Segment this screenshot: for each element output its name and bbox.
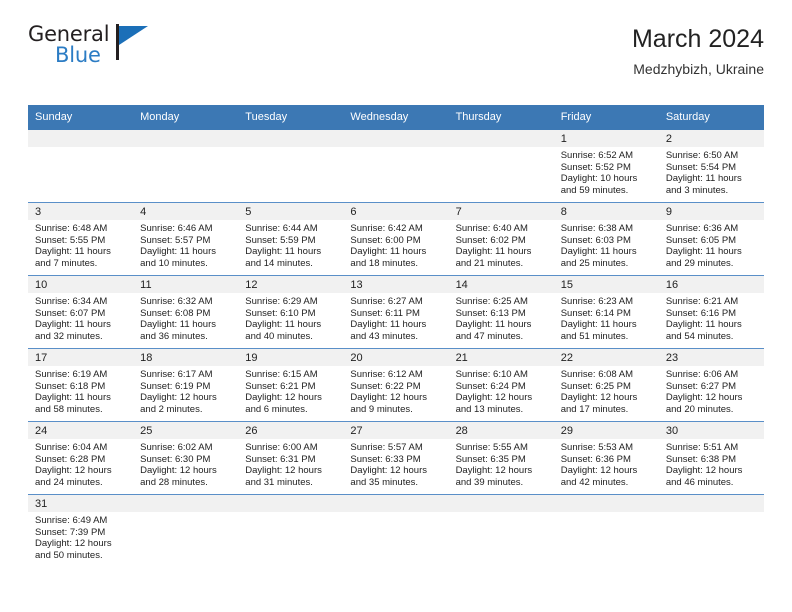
day-number: 13 [343,276,448,293]
sunset-text: Sunset: 6:00 PM [350,235,443,247]
day-details: Sunrise: 6:48 AMSunset: 5:55 PMDaylight:… [28,220,133,274]
calendar-week-row: 24Sunrise: 6:04 AMSunset: 6:28 PMDayligh… [28,422,764,495]
sunset-text: Sunset: 5:57 PM [140,235,233,247]
sunset-text: Sunset: 6:08 PM [140,308,233,320]
day-details: Sunrise: 6:50 AMSunset: 5:54 PMDaylight:… [659,147,764,201]
day-cell-1[interactable]: 1Sunrise: 6:52 AMSunset: 5:52 PMDaylight… [554,130,659,202]
day-cell-empty [659,495,764,567]
sunrise-text: Sunrise: 6:15 AM [245,369,338,381]
day-number [238,130,343,147]
calendar-week-row: 10Sunrise: 6:34 AMSunset: 6:07 PMDayligh… [28,276,764,349]
daylight-text: and 54 minutes. [666,331,759,343]
day-number: 17 [28,349,133,366]
daylight-text: and 58 minutes. [35,404,128,416]
day-number: 23 [659,349,764,366]
day-details: Sunrise: 6:19 AMSunset: 6:18 PMDaylight:… [28,366,133,420]
daylight-text: Daylight: 11 hours [561,319,654,331]
sunrise-text: Sunrise: 5:53 AM [561,442,654,454]
page-subtitle: Medzhybizh, Ukraine [632,58,764,80]
daylight-text: Daylight: 11 hours [35,392,128,404]
day-cell-23[interactable]: 23Sunrise: 6:06 AMSunset: 6:27 PMDayligh… [659,349,764,421]
weekday-header-saturday: Saturday [659,105,764,130]
daylight-text: Daylight: 11 hours [35,319,128,331]
day-number: 20 [343,349,448,366]
sunset-text: Sunset: 6:13 PM [456,308,549,320]
sunrise-text: Sunrise: 6:29 AM [245,296,338,308]
day-details: Sunrise: 6:08 AMSunset: 6:25 PMDaylight:… [554,366,659,420]
sunrise-text: Sunrise: 6:19 AM [35,369,128,381]
weekday-header-tuesday: Tuesday [238,105,343,130]
day-number: 25 [133,422,238,439]
sunset-text: Sunset: 5:54 PM [666,162,759,174]
day-cell-5[interactable]: 5Sunrise: 6:44 AMSunset: 5:59 PMDaylight… [238,203,343,275]
day-number: 4 [133,203,238,220]
day-number [343,130,448,147]
day-cell-6[interactable]: 6Sunrise: 6:42 AMSunset: 6:00 PMDaylight… [343,203,448,275]
sunrise-text: Sunrise: 6:08 AM [561,369,654,381]
daylight-text: Daylight: 11 hours [140,319,233,331]
day-cell-20[interactable]: 20Sunrise: 6:12 AMSunset: 6:22 PMDayligh… [343,349,448,421]
day-cell-12[interactable]: 12Sunrise: 6:29 AMSunset: 6:10 PMDayligh… [238,276,343,348]
daylight-text: and 40 minutes. [245,331,338,343]
sunrise-text: Sunrise: 6:06 AM [666,369,759,381]
day-details: Sunrise: 6:38 AMSunset: 6:03 PMDaylight:… [554,220,659,274]
day-cell-25[interactable]: 25Sunrise: 6:02 AMSunset: 6:30 PMDayligh… [133,422,238,494]
sunrise-text: Sunrise: 6:32 AM [140,296,233,308]
sunrise-text: Sunrise: 6:36 AM [666,223,759,235]
sunrise-text: Sunrise: 6:44 AM [245,223,338,235]
day-number: 1 [554,130,659,147]
daylight-text: and 43 minutes. [350,331,443,343]
daylight-text: and 50 minutes. [35,550,128,562]
daylight-text: and 42 minutes. [561,477,654,489]
day-number: 26 [238,422,343,439]
sunset-text: Sunset: 6:19 PM [140,381,233,393]
daylight-text: Daylight: 12 hours [245,392,338,404]
day-number: 24 [28,422,133,439]
sunset-text: Sunset: 7:39 PM [35,527,128,539]
daylight-text: Daylight: 12 hours [561,392,654,404]
day-cell-15[interactable]: 15Sunrise: 6:23 AMSunset: 6:14 PMDayligh… [554,276,659,348]
day-details: Sunrise: 5:51 AMSunset: 6:38 PMDaylight:… [659,439,764,493]
day-details: Sunrise: 6:36 AMSunset: 6:05 PMDaylight:… [659,220,764,274]
day-cell-14[interactable]: 14Sunrise: 6:25 AMSunset: 6:13 PMDayligh… [449,276,554,348]
day-number: 12 [238,276,343,293]
brand-logo[interactable]: General Blue [28,22,148,72]
daylight-text: Daylight: 11 hours [666,173,759,185]
sunset-text: Sunset: 6:33 PM [350,454,443,466]
daylight-text: Daylight: 12 hours [456,392,549,404]
daylight-text: Daylight: 11 hours [350,246,443,258]
day-number: 8 [554,203,659,220]
sunset-text: Sunset: 6:11 PM [350,308,443,320]
daylight-text: and 9 minutes. [350,404,443,416]
sunrise-text: Sunrise: 6:49 AM [35,515,128,527]
day-details: Sunrise: 5:57 AMSunset: 6:33 PMDaylight:… [343,439,448,493]
daylight-text: and 59 minutes. [561,185,654,197]
daylight-text: and 14 minutes. [245,258,338,270]
flag-triangle-icon [119,26,148,45]
day-number: 19 [238,349,343,366]
calendar-body: 1Sunrise: 6:52 AMSunset: 5:52 PMDaylight… [28,130,764,567]
sunrise-text: Sunrise: 6:21 AM [666,296,759,308]
weekday-header-sunday: Sunday [28,105,133,130]
day-details: Sunrise: 6:02 AMSunset: 6:30 PMDaylight:… [133,439,238,493]
calendar-week-row: 17Sunrise: 6:19 AMSunset: 6:18 PMDayligh… [28,349,764,422]
sunrise-text: Sunrise: 6:25 AM [456,296,549,308]
sunrise-text: Sunrise: 6:17 AM [140,369,233,381]
sunset-text: Sunset: 6:10 PM [245,308,338,320]
daylight-text: and 20 minutes. [666,404,759,416]
day-details: Sunrise: 6:46 AMSunset: 5:57 PMDaylight:… [133,220,238,274]
day-cell-10[interactable]: 10Sunrise: 6:34 AMSunset: 6:07 PMDayligh… [28,276,133,348]
day-cell-17[interactable]: 17Sunrise: 6:19 AMSunset: 6:18 PMDayligh… [28,349,133,421]
day-cell-2[interactable]: 2Sunrise: 6:50 AMSunset: 5:54 PMDaylight… [659,130,764,202]
daylight-text: and 31 minutes. [245,477,338,489]
daylight-text: Daylight: 11 hours [350,319,443,331]
day-details: Sunrise: 6:10 AMSunset: 6:24 PMDaylight:… [449,366,554,420]
daylight-text: and 21 minutes. [456,258,549,270]
sunrise-text: Sunrise: 6:02 AM [140,442,233,454]
day-details: Sunrise: 6:42 AMSunset: 6:00 PMDaylight:… [343,220,448,274]
day-cell-3[interactable]: 3Sunrise: 6:48 AMSunset: 5:55 PMDaylight… [28,203,133,275]
day-cell-7[interactable]: 7Sunrise: 6:40 AMSunset: 6:02 PMDaylight… [449,203,554,275]
sunrise-text: Sunrise: 5:57 AM [350,442,443,454]
brand-name-blue: Blue [55,43,101,67]
daylight-text: and 17 minutes. [561,404,654,416]
day-cell-19[interactable]: 19Sunrise: 6:15 AMSunset: 6:21 PMDayligh… [238,349,343,421]
weekday-header-thursday: Thursday [449,105,554,130]
sunrise-text: Sunrise: 6:52 AM [561,150,654,162]
daylight-text: Daylight: 11 hours [456,319,549,331]
daylight-text: Daylight: 12 hours [140,392,233,404]
sunset-text: Sunset: 6:28 PM [35,454,128,466]
day-details: Sunrise: 6:32 AMSunset: 6:08 PMDaylight:… [133,293,238,347]
day-cell-empty [28,130,133,202]
day-number: 30 [659,422,764,439]
day-cell-27[interactable]: 27Sunrise: 5:57 AMSunset: 6:33 PMDayligh… [343,422,448,494]
daylight-text: Daylight: 11 hours [245,319,338,331]
day-number: 22 [554,349,659,366]
sunset-text: Sunset: 6:30 PM [140,454,233,466]
daylight-text: Daylight: 11 hours [666,319,759,331]
weekday-header-monday: Monday [133,105,238,130]
day-number: 29 [554,422,659,439]
daylight-text: Daylight: 10 hours [561,173,654,185]
daylight-text: and 18 minutes. [350,258,443,270]
day-cell-22[interactable]: 22Sunrise: 6:08 AMSunset: 6:25 PMDayligh… [554,349,659,421]
day-details: Sunrise: 5:55 AMSunset: 6:35 PMDaylight:… [449,439,554,493]
day-details: Sunrise: 6:04 AMSunset: 6:28 PMDaylight:… [28,439,133,493]
daylight-text: and 46 minutes. [666,477,759,489]
weekday-header-row: SundayMondayTuesdayWednesdayThursdayFrid… [28,105,764,130]
day-details: Sunrise: 6:49 AMSunset: 7:39 PMDaylight:… [28,512,133,566]
sunrise-text: Sunrise: 6:00 AM [245,442,338,454]
day-details: Sunrise: 6:34 AMSunset: 6:07 PMDaylight:… [28,293,133,347]
day-number: 10 [28,276,133,293]
day-details: Sunrise: 6:25 AMSunset: 6:13 PMDaylight:… [449,293,554,347]
sunrise-text: Sunrise: 6:48 AM [35,223,128,235]
weekday-header-friday: Friday [554,105,659,130]
sunset-text: Sunset: 6:36 PM [561,454,654,466]
sunset-text: Sunset: 6:35 PM [456,454,549,466]
daylight-text: Daylight: 11 hours [35,246,128,258]
day-cell-empty [133,130,238,202]
sunset-text: Sunset: 5:55 PM [35,235,128,247]
day-cell-24[interactable]: 24Sunrise: 6:04 AMSunset: 6:28 PMDayligh… [28,422,133,494]
day-details: Sunrise: 5:53 AMSunset: 6:36 PMDaylight:… [554,439,659,493]
day-details: Sunrise: 6:52 AMSunset: 5:52 PMDaylight:… [554,147,659,201]
day-cell-8[interactable]: 8Sunrise: 6:38 AMSunset: 6:03 PMDaylight… [554,203,659,275]
sunrise-text: Sunrise: 6:04 AM [35,442,128,454]
day-cell-empty [449,495,554,567]
daylight-text: Daylight: 12 hours [35,465,128,477]
day-cell-empty [238,130,343,202]
day-details: Sunrise: 6:44 AMSunset: 5:59 PMDaylight:… [238,220,343,274]
day-cell-30[interactable]: 30Sunrise: 5:51 AMSunset: 6:38 PMDayligh… [659,422,764,494]
daylight-text: Daylight: 12 hours [35,538,128,550]
daylight-text: and 47 minutes. [456,331,549,343]
daylight-text: and 36 minutes. [140,331,233,343]
daylight-text: Daylight: 11 hours [456,246,549,258]
sunset-text: Sunset: 6:22 PM [350,381,443,393]
day-details: Sunrise: 6:29 AMSunset: 6:10 PMDaylight:… [238,293,343,347]
day-number: 16 [659,276,764,293]
day-details: Sunrise: 6:40 AMSunset: 6:02 PMDaylight:… [449,220,554,274]
day-details: Sunrise: 6:23 AMSunset: 6:14 PMDaylight:… [554,293,659,347]
day-number: 15 [554,276,659,293]
sunset-text: Sunset: 6:31 PM [245,454,338,466]
sunrise-text: Sunrise: 6:10 AM [456,369,549,381]
sunrise-text: Sunrise: 5:51 AM [666,442,759,454]
sunset-text: Sunset: 6:02 PM [456,235,549,247]
daylight-text: Daylight: 11 hours [666,246,759,258]
daylight-text: and 28 minutes. [140,477,233,489]
day-cell-empty [343,495,448,567]
sunset-text: Sunset: 5:59 PM [245,235,338,247]
day-number [238,495,343,512]
daylight-text: and 51 minutes. [561,331,654,343]
daylight-text: and 39 minutes. [456,477,549,489]
sunset-text: Sunset: 6:18 PM [35,381,128,393]
sunset-text: Sunset: 6:05 PM [666,235,759,247]
sunrise-text: Sunrise: 6:12 AM [350,369,443,381]
day-number: 31 [28,495,133,512]
sunrise-text: Sunrise: 6:46 AM [140,223,233,235]
sunset-text: Sunset: 6:25 PM [561,381,654,393]
day-cell-empty [449,130,554,202]
sunrise-text: Sunrise: 6:50 AM [666,150,759,162]
daylight-text: and 32 minutes. [35,331,128,343]
sunset-text: Sunset: 6:21 PM [245,381,338,393]
calendar-week-row: 31Sunrise: 6:49 AMSunset: 7:39 PMDayligh… [28,495,764,567]
day-number [343,495,448,512]
day-details: Sunrise: 6:17 AMSunset: 6:19 PMDaylight:… [133,366,238,420]
day-number: 6 [343,203,448,220]
daylight-text: Daylight: 12 hours [350,392,443,404]
calendar-grid: SundayMondayTuesdayWednesdayThursdayFrid… [28,105,764,567]
day-cell-13[interactable]: 13Sunrise: 6:27 AMSunset: 6:11 PMDayligh… [343,276,448,348]
day-number: 2 [659,130,764,147]
sunset-text: Sunset: 6:27 PM [666,381,759,393]
calendar-week-row: 3Sunrise: 6:48 AMSunset: 5:55 PMDaylight… [28,203,764,276]
day-details: Sunrise: 6:12 AMSunset: 6:22 PMDaylight:… [343,366,448,420]
day-details: Sunrise: 6:27 AMSunset: 6:11 PMDaylight:… [343,293,448,347]
day-cell-29[interactable]: 29Sunrise: 5:53 AMSunset: 6:36 PMDayligh… [554,422,659,494]
daylight-text: Daylight: 12 hours [350,465,443,477]
daylight-text: and 35 minutes. [350,477,443,489]
day-number [659,495,764,512]
day-details: Sunrise: 6:21 AMSunset: 6:16 PMDaylight:… [659,293,764,347]
day-cell-9[interactable]: 9Sunrise: 6:36 AMSunset: 6:05 PMDaylight… [659,203,764,275]
sunrise-text: Sunrise: 6:23 AM [561,296,654,308]
day-details: Sunrise: 6:06 AMSunset: 6:27 PMDaylight:… [659,366,764,420]
sunset-text: Sunset: 6:07 PM [35,308,128,320]
daylight-text: Daylight: 11 hours [561,246,654,258]
sunset-text: Sunset: 5:52 PM [561,162,654,174]
day-cell-31[interactable]: 31Sunrise: 6:49 AMSunset: 7:39 PMDayligh… [28,495,133,567]
day-number: 11 [133,276,238,293]
day-number [133,130,238,147]
daylight-text: and 7 minutes. [35,258,128,270]
daylight-text: Daylight: 11 hours [140,246,233,258]
day-number: 21 [449,349,554,366]
day-cell-18[interactable]: 18Sunrise: 6:17 AMSunset: 6:19 PMDayligh… [133,349,238,421]
day-number [449,130,554,147]
day-number: 9 [659,203,764,220]
day-number: 14 [449,276,554,293]
day-number [133,495,238,512]
daylight-text: Daylight: 12 hours [666,392,759,404]
day-cell-16[interactable]: 16Sunrise: 6:21 AMSunset: 6:16 PMDayligh… [659,276,764,348]
daylight-text: and 6 minutes. [245,404,338,416]
day-number [28,130,133,147]
day-number: 18 [133,349,238,366]
sunrise-text: Sunrise: 6:34 AM [35,296,128,308]
day-cell-4[interactable]: 4Sunrise: 6:46 AMSunset: 5:57 PMDaylight… [133,203,238,275]
day-number [449,495,554,512]
sunrise-text: Sunrise: 6:27 AM [350,296,443,308]
sunset-text: Sunset: 6:16 PM [666,308,759,320]
day-cell-21[interactable]: 21Sunrise: 6:10 AMSunset: 6:24 PMDayligh… [449,349,554,421]
daylight-text: Daylight: 12 hours [561,465,654,477]
page-title: March 2024 [632,24,764,54]
daylight-text: and 13 minutes. [456,404,549,416]
day-cell-11[interactable]: 11Sunrise: 6:32 AMSunset: 6:08 PMDayligh… [133,276,238,348]
day-number: 3 [28,203,133,220]
day-cell-empty [238,495,343,567]
sunset-text: Sunset: 6:24 PM [456,381,549,393]
daylight-text: and 3 minutes. [666,185,759,197]
calendar-week-row: 1Sunrise: 6:52 AMSunset: 5:52 PMDaylight… [28,130,764,203]
sunset-text: Sunset: 6:14 PM [561,308,654,320]
day-number [554,495,659,512]
day-cell-empty [133,495,238,567]
sunrise-text: Sunrise: 6:42 AM [350,223,443,235]
daylight-text: and 25 minutes. [561,258,654,270]
day-details: Sunrise: 6:00 AMSunset: 6:31 PMDaylight:… [238,439,343,493]
sunset-text: Sunset: 6:38 PM [666,454,759,466]
page-header: General Blue March 2024 Medzhybizh, Ukra… [0,0,792,74]
day-number: 27 [343,422,448,439]
daylight-text: and 29 minutes. [666,258,759,270]
daylight-text: Daylight: 11 hours [245,246,338,258]
daylight-text: and 10 minutes. [140,258,233,270]
sunset-text: Sunset: 6:03 PM [561,235,654,247]
day-cell-empty [554,495,659,567]
sunrise-text: Sunrise: 6:40 AM [456,223,549,235]
sunrise-text: Sunrise: 6:38 AM [561,223,654,235]
day-cell-28[interactable]: 28Sunrise: 5:55 AMSunset: 6:35 PMDayligh… [449,422,554,494]
day-number: 7 [449,203,554,220]
day-details: Sunrise: 6:15 AMSunset: 6:21 PMDaylight:… [238,366,343,420]
daylight-text: Daylight: 12 hours [456,465,549,477]
day-cell-26[interactable]: 26Sunrise: 6:00 AMSunset: 6:31 PMDayligh… [238,422,343,494]
daylight-text: and 2 minutes. [140,404,233,416]
weekday-header-wednesday: Wednesday [343,105,448,130]
title-block: March 2024 Medzhybizh, Ukraine [632,22,764,80]
daylight-text: Daylight: 12 hours [666,465,759,477]
daylight-text: Daylight: 12 hours [245,465,338,477]
day-number: 28 [449,422,554,439]
day-cell-empty [343,130,448,202]
daylight-text: and 24 minutes. [35,477,128,489]
day-number: 5 [238,203,343,220]
sunrise-text: Sunrise: 5:55 AM [456,442,549,454]
daylight-text: Daylight: 12 hours [140,465,233,477]
